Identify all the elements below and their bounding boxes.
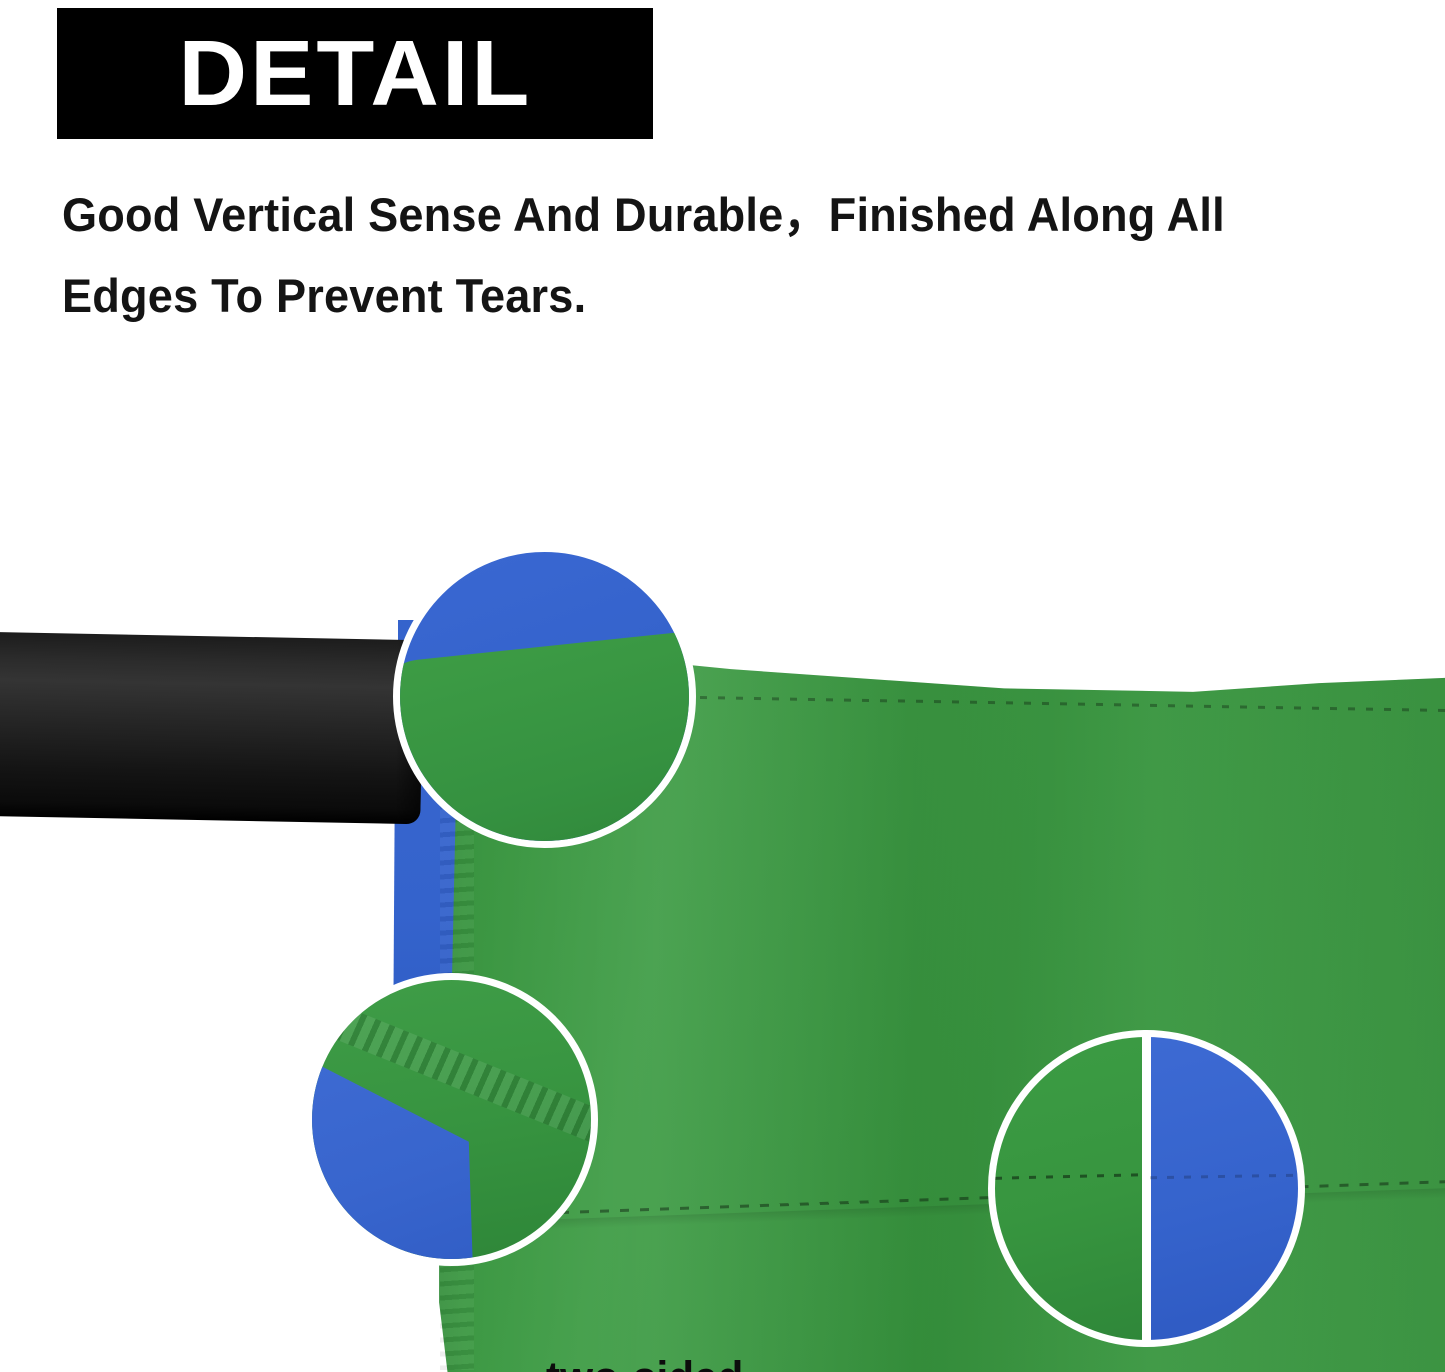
callout-label-two-sided: two-sided <box>546 1355 743 1372</box>
callout-two-sided <box>393 545 696 848</box>
product-photo: two-sided Fine Seaming Crossbar Sleeve <box>0 500 1445 1372</box>
product-detail-page: DETAIL Good Vertical Sense And Durable，F… <box>0 0 1445 1372</box>
detail-banner: DETAIL <box>57 8 653 139</box>
green-fold-corner <box>393 631 696 848</box>
detail-subtitle: Good Vertical Sense And Durable，Finished… <box>62 175 1310 337</box>
callout-crossbar-sleeve <box>305 973 598 1266</box>
callout-label-fine-seaming: Fine Seaming <box>1026 1367 1301 1372</box>
callout-fine-seaming <box>988 1030 1305 1347</box>
seam-blue-half <box>1151 1037 1298 1340</box>
seam-green-half <box>995 1037 1142 1340</box>
detail-banner-title: DETAIL <box>178 27 532 120</box>
black-crossbar-pole <box>0 632 424 824</box>
